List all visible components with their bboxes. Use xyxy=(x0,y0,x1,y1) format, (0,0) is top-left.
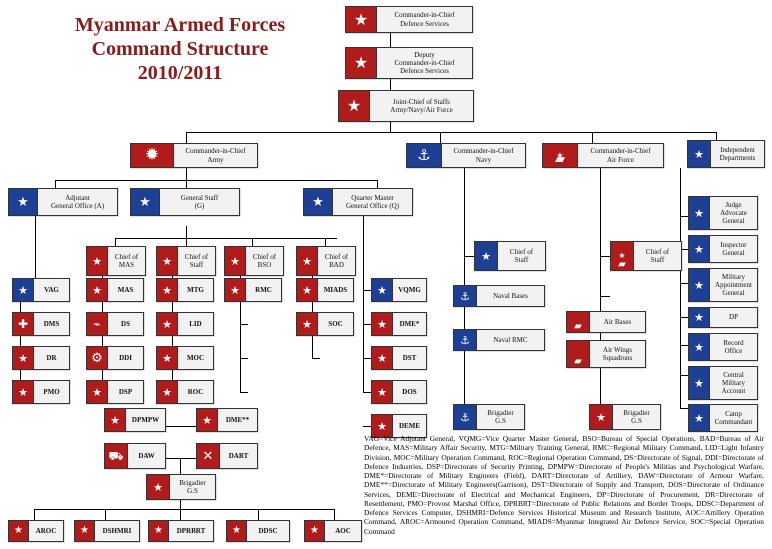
star-icon: ★ xyxy=(9,521,28,541)
flag-red-star: ★ xyxy=(372,313,393,335)
flag-red-star: ★ xyxy=(157,381,178,403)
star-icon: ★ xyxy=(105,409,125,431)
flag-army: ✹ xyxy=(131,144,174,167)
flag-navy-anchor: ⚓ xyxy=(454,286,477,306)
connector xyxy=(363,324,371,325)
star-icon: ★ xyxy=(339,91,369,121)
connector xyxy=(390,122,391,132)
node-label: MIADS xyxy=(318,279,353,301)
star-icon: ★ xyxy=(372,381,392,403)
star-icon: ✹ xyxy=(131,144,173,167)
anchor-icon: ⚓ xyxy=(454,286,476,306)
star-icon: ★ xyxy=(372,347,392,369)
node-chief-of-bad[interactable]: ★ Chief of BAD xyxy=(296,246,356,276)
wing-icon: ▰ xyxy=(543,144,577,167)
node-vqmg[interactable]: ★ VQMG xyxy=(371,278,427,302)
star-icon: ★ xyxy=(227,521,246,541)
node-cinc-air-force[interactable]: ★ ▰ Commander-in-Chief Air Force xyxy=(542,143,664,168)
flag-red-star: ★ xyxy=(225,247,246,275)
flag-blue-star: ★ xyxy=(689,334,710,360)
star-icon: ★ xyxy=(131,189,159,215)
node-dp[interactable]: ★ DP xyxy=(688,307,758,328)
connector xyxy=(186,168,187,180)
star-icon: ★ xyxy=(225,247,245,275)
node-label: Camp Commandant xyxy=(710,405,757,431)
connector xyxy=(390,33,391,47)
node-vag[interactable]: ★ VAG xyxy=(12,278,70,302)
node-label: Naval Bases xyxy=(477,286,544,306)
node-cinc-navy[interactable]: ⚓ Commander-in-Chief Navy xyxy=(406,143,526,168)
connector xyxy=(180,509,181,520)
node-label: Air Bases xyxy=(590,312,645,332)
node-label: DPMPW xyxy=(126,409,165,431)
node-chief-of-staff-army[interactable]: ★ Chief of Staff xyxy=(156,246,216,276)
node-soc[interactable]: ★ SOC xyxy=(296,312,354,336)
anchor-icon: ⚓ xyxy=(454,330,476,350)
flag-navy-anchor: ⚓ xyxy=(454,330,477,350)
connector xyxy=(186,180,187,188)
connector xyxy=(680,345,688,346)
node-label: DSHMRI xyxy=(95,521,139,541)
node-naval-bases[interactable]: ⚓ Naval Bases xyxy=(453,285,545,307)
star-icon: ★ xyxy=(688,141,710,167)
star-icon: ★ xyxy=(297,313,317,335)
flag-blue-star: ★ xyxy=(372,279,393,301)
node-ddsc[interactable]: ★ DDSC xyxy=(226,520,290,542)
node-label: Joint-Chief of Staffs Army/Navy/Air Forc… xyxy=(370,91,473,121)
connector xyxy=(186,238,187,246)
node-label: Independent Departments xyxy=(711,141,764,167)
flag-air-force: ★ ▰ xyxy=(543,144,578,167)
anchor-icon: ⚓ xyxy=(454,405,476,429)
node-chief-of-mas[interactable]: ★ Chief of MAS xyxy=(86,246,146,276)
cannon-icon: ✕ xyxy=(197,444,219,468)
star-icon: ★ xyxy=(305,521,324,541)
node-air-bases[interactable]: ▰ Air Bases xyxy=(566,311,646,333)
node-navy-chief-of-staff[interactable]: ★ Chief of Staff xyxy=(474,241,546,271)
connector xyxy=(258,509,259,520)
connector xyxy=(377,180,378,188)
node-label: ROC xyxy=(178,381,213,403)
flag-red-star: ★ xyxy=(372,347,393,369)
node-dart[interactable]: ✕ DART xyxy=(196,443,258,469)
page-title-line3: 2010/2011 xyxy=(40,62,320,85)
flag-blue-star: ★ xyxy=(9,189,38,215)
connector xyxy=(334,509,335,520)
node-label: MAS xyxy=(108,279,143,301)
node-label: Deputy Commander-in-Chief Defence Servic… xyxy=(377,48,472,78)
connector xyxy=(186,132,716,133)
node-brigadier-gs-army[interactable]: ★ Brigadier G.S xyxy=(146,474,216,500)
node-label: MOC xyxy=(178,347,213,369)
node-dos[interactable]: ★ DOS xyxy=(371,380,427,404)
node-dprbrt[interactable]: ★ DPRBRT xyxy=(148,520,214,542)
star-icon: ★ xyxy=(87,247,107,275)
node-military-appointment-general[interactable]: ★ Military Appointment General xyxy=(688,268,758,302)
node-label: DAW xyxy=(128,444,165,468)
connector xyxy=(600,296,610,297)
node-daw[interactable]: ⛟ DAW xyxy=(104,443,166,469)
node-label: Record Office xyxy=(710,334,757,360)
node-label: LID xyxy=(178,313,213,335)
node-record-office[interactable]: ★ Record Office xyxy=(688,333,758,361)
star-icon: ★ xyxy=(304,189,332,215)
connector xyxy=(680,216,688,217)
node-adjutant-general-office[interactable]: ★ Adjutant General Office (A) xyxy=(8,188,118,216)
star-icon: ★ xyxy=(197,409,217,431)
connector xyxy=(680,168,681,216)
node-general-staff[interactable]: ★ General Staff (G) xyxy=(130,188,240,216)
connector xyxy=(600,168,601,238)
node-label: Commander-in-Chief Air Force xyxy=(578,144,663,167)
star-icon: ★ xyxy=(13,381,33,403)
star-icon: ★ xyxy=(157,381,177,403)
node-quarter-master-general-office[interactable]: ★ Quarter Master General Office (Q) xyxy=(303,188,413,216)
node-label: Judge Advocate General xyxy=(710,197,757,229)
node-label: Commander-in-Chief Defence Services xyxy=(377,7,472,32)
star-icon: ★ xyxy=(9,189,37,215)
star-icon: ★ xyxy=(475,242,497,270)
flag-blue-star: ★ xyxy=(13,279,34,301)
flag-red-star: ★ xyxy=(75,521,95,541)
flag-red-star: ★ xyxy=(590,405,613,429)
connector xyxy=(35,216,36,278)
connector xyxy=(363,216,364,392)
node-label: Chief of Staff xyxy=(634,242,681,270)
connector xyxy=(363,358,371,359)
flag-red-star: ★ xyxy=(157,347,178,369)
flag-blue-star: ★ xyxy=(689,367,710,399)
flag-red-star: ★ xyxy=(297,279,318,301)
node-label: PMO xyxy=(34,381,69,403)
connector xyxy=(680,317,688,318)
star-icon: ★ xyxy=(225,279,245,301)
node-label: AOC xyxy=(325,521,361,541)
node-moc[interactable]: ★ MOC xyxy=(156,346,214,370)
flag-blue-star: ★ xyxy=(689,405,710,431)
flag-red-star: ★ xyxy=(346,7,377,32)
flag-blue-star: ★ xyxy=(131,189,160,215)
node-label: General Staff (G) xyxy=(160,189,239,215)
node-air-chief-of-staff[interactable]: ★ ▰ Chief of Staff xyxy=(610,241,682,271)
flag-blue-star: ★ xyxy=(689,236,710,262)
node-label: Brigadier G.S xyxy=(170,475,215,499)
page-title-line1: Myanmar Armed Forces xyxy=(40,14,320,37)
node-label: Military Appointment General xyxy=(710,269,757,301)
flag-red-star: ★ xyxy=(149,521,169,541)
page-title-line2: Command Structure xyxy=(40,38,320,61)
node-aroc[interactable]: ★ AROC xyxy=(8,520,64,542)
connector xyxy=(55,180,56,188)
node-label: Commander-in-Chief Navy xyxy=(442,144,525,167)
connector xyxy=(600,256,610,257)
node-label: Air Wings Squadrons xyxy=(590,341,645,367)
node-label: DMS xyxy=(34,313,69,335)
flag-red-star: ★ xyxy=(157,279,178,301)
medical-cross-icon: ✚ xyxy=(13,313,33,335)
node-dpmpw[interactable]: ★ DPMPW xyxy=(104,408,166,432)
star-icon: ★ xyxy=(346,48,376,78)
node-label: DST xyxy=(393,347,426,369)
node-navy-brigadier-gs[interactable]: ⚓ Brigadier G.S xyxy=(453,404,525,430)
connector xyxy=(180,458,181,474)
tank-icon: ⛟ xyxy=(105,444,127,468)
node-label: DART xyxy=(220,444,257,468)
flag-red-star: ★ xyxy=(197,409,218,431)
connector xyxy=(105,509,106,520)
flag-red-star: ★ xyxy=(157,247,178,275)
flag-red-star: ★ xyxy=(346,48,377,78)
node-label: DDI xyxy=(108,347,143,369)
connector xyxy=(592,132,593,143)
connector xyxy=(240,358,248,359)
node-label: Central Military Account xyxy=(710,367,757,399)
star-icon: ★ xyxy=(157,313,177,335)
node-label: Commander-in-Chief Army xyxy=(174,144,257,167)
node-judge-advocate-general[interactable]: ★ Judge Advocate General xyxy=(688,196,758,230)
star-icon: ★ xyxy=(297,279,317,301)
flag-blue-star: ★ xyxy=(689,197,710,229)
flag-red-star: ★ xyxy=(13,347,34,369)
connector xyxy=(252,238,253,246)
connector xyxy=(186,132,187,143)
star-icon: ★ xyxy=(689,334,709,360)
connector xyxy=(240,392,248,393)
node-rmc[interactable]: ★ RMC xyxy=(224,278,282,302)
flag-red-star: ★ xyxy=(297,247,318,275)
node-naval-rmc[interactable]: ⚓ Naval RMC xyxy=(453,329,545,351)
node-dsp[interactable]: ★ DSP xyxy=(86,380,144,404)
connector xyxy=(115,238,337,239)
flag-red-star: ★ xyxy=(147,475,170,499)
wing-icon: ▰ xyxy=(567,341,589,367)
connector xyxy=(363,392,371,393)
node-dr[interactable]: ★ DR xyxy=(12,346,70,370)
star-icon: ★ xyxy=(689,269,709,301)
star-icon: ★ xyxy=(87,381,107,403)
connector xyxy=(363,290,371,291)
node-dme-field[interactable]: ★ DME* xyxy=(371,312,427,336)
node-label: Chief of BSO xyxy=(246,247,283,275)
flag-air: ▰ xyxy=(567,312,590,332)
node-dst[interactable]: ★ DST xyxy=(371,346,427,370)
flag-red-star: ★ xyxy=(87,381,108,403)
flag-gear: ⚙ xyxy=(87,347,108,369)
node-cinc-defence-services[interactable]: ★ Commander-in-Chief Defence Services xyxy=(345,6,473,33)
connector xyxy=(680,408,688,409)
node-label: Chief of Staff xyxy=(178,247,215,275)
flag-blue-star: ★ xyxy=(475,242,498,270)
node-label: Brigadier G.S xyxy=(613,405,660,429)
node-label: DOS xyxy=(393,381,426,403)
gear-icon: ⚙ xyxy=(87,347,107,369)
star-icon: ★ xyxy=(689,236,709,262)
node-air-wings-squadrons[interactable]: ▰ Air Wings Squadrons xyxy=(566,340,646,368)
flag-red-star: ★ xyxy=(372,381,393,403)
node-ddi[interactable]: ⚙ DDI xyxy=(86,346,144,370)
node-label: AROC xyxy=(29,521,63,541)
flag-red-star: ★ xyxy=(297,313,318,335)
flag-navy: ⚓ xyxy=(407,144,442,167)
star-icon: ★ xyxy=(149,521,168,541)
connector xyxy=(440,132,441,143)
connector xyxy=(34,509,334,510)
connector xyxy=(115,238,116,246)
node-label: VAG xyxy=(34,279,69,301)
flag-red-star: ★ xyxy=(13,381,34,403)
node-independent-departments[interactable]: ★ Independent Departments xyxy=(687,140,765,168)
node-deputy-cinc-defence-services[interactable]: ★ Deputy Commander-in-Chief Defence Serv… xyxy=(345,47,473,79)
star-icon: ★ xyxy=(157,347,177,369)
node-central-military-account[interactable]: ★ Central Military Account xyxy=(688,366,758,400)
anchor-icon: ⚓ xyxy=(407,144,441,167)
flag-red-star: ★ xyxy=(339,91,370,121)
connector xyxy=(186,226,187,238)
node-cinc-army[interactable]: ✹ Commander-in-Chief Army xyxy=(130,143,258,168)
node-mtg[interactable]: ★ MTG xyxy=(156,278,214,302)
star-icon: ★ xyxy=(157,247,177,275)
star-icon: ★ xyxy=(372,279,392,301)
node-label: DP xyxy=(710,308,757,327)
star-icon: ★ xyxy=(372,313,392,335)
flag-red-star: ★ xyxy=(87,279,108,301)
star-icon: ★ xyxy=(13,279,33,301)
node-camp-commandant[interactable]: ★ Camp Commandant xyxy=(688,404,758,432)
flag-red-star: ★ xyxy=(9,521,29,541)
flag-air: ★ ▰ xyxy=(611,242,634,270)
node-roc[interactable]: ★ ROC xyxy=(156,380,214,404)
flag-blue-star: ★ xyxy=(688,141,711,167)
star-icon: ★ xyxy=(689,308,709,327)
node-label: Naval RMC xyxy=(477,330,544,350)
signal-icon: ⌁ xyxy=(87,313,107,335)
node-inspector-general[interactable]: ★ Inspector General xyxy=(688,235,758,263)
connector xyxy=(312,358,320,359)
star-icon: ★ xyxy=(87,279,107,301)
connector xyxy=(464,168,465,238)
flag-air: ▰ xyxy=(567,341,590,367)
flag-blue-star: ★ xyxy=(304,189,333,215)
legend-abbreviations: VAG=Vice Adjutant General, VQMG=Vice Qua… xyxy=(364,434,764,544)
star-icon: ★ xyxy=(297,247,317,275)
flag-artillery: ✕ xyxy=(197,444,220,468)
star-icon: ★ xyxy=(689,367,709,399)
node-label: Chief of BAD xyxy=(318,247,355,275)
node-label: Quarter Master General Office (Q) xyxy=(333,189,412,215)
flag-signal: ⌁ xyxy=(87,313,108,335)
flag-blue-star: ★ xyxy=(689,269,710,301)
node-label: RMC xyxy=(246,279,281,301)
connector xyxy=(34,509,35,520)
node-label: DME* xyxy=(393,313,426,335)
connector xyxy=(390,79,391,90)
node-ds[interactable]: ⌁ DS xyxy=(86,312,144,336)
star-icon: ★ xyxy=(157,279,177,301)
node-label: Chief of MAS xyxy=(108,247,145,275)
node-miads[interactable]: ★ MIADS xyxy=(296,278,354,302)
node-chief-of-bso[interactable]: ★ Chief of BSO xyxy=(224,246,284,276)
connector xyxy=(55,180,377,181)
star-icon: ★ xyxy=(689,405,709,431)
flag-armour: ⛟ xyxy=(105,444,128,468)
node-dme-garrison[interactable]: ★ DME** xyxy=(196,408,258,432)
node-label: SOC xyxy=(318,313,353,335)
flag-red-star: ★ xyxy=(225,279,246,301)
node-pmo[interactable]: ★ PMO xyxy=(12,380,70,404)
node-lid[interactable]: ★ LID xyxy=(156,312,214,336)
node-label: DME** xyxy=(218,409,257,431)
star-icon: ★ xyxy=(13,347,33,369)
star-icon: ★ xyxy=(147,475,169,499)
node-label: Chief of Staff xyxy=(498,242,545,270)
flag-red-star: ★ xyxy=(157,313,178,335)
node-label: DSP xyxy=(108,381,143,403)
flag-medical: ✚ xyxy=(13,313,34,335)
node-label: Adjutant General Office (A) xyxy=(38,189,117,215)
flag-red-star: ★ xyxy=(105,409,126,431)
flag-navy-anchor: ⚓ xyxy=(454,405,477,429)
node-dshmri[interactable]: ★ DSHMRI xyxy=(74,520,140,542)
star-icon: ★ xyxy=(346,7,376,32)
node-aoc[interactable]: ★ AOC xyxy=(304,520,362,542)
node-label: DR xyxy=(34,347,69,369)
wing-icon: ▰ xyxy=(611,242,633,270)
node-label: DS xyxy=(108,313,143,335)
connector xyxy=(464,256,474,257)
node-label: MTG xyxy=(178,279,213,301)
node-label: DPRBRT xyxy=(169,521,213,541)
connector xyxy=(680,283,688,284)
node-label: Brigadier G.S xyxy=(477,405,524,429)
node-label: DDSC xyxy=(247,521,289,541)
star-icon: ★ xyxy=(689,197,709,229)
connector xyxy=(325,238,326,246)
star-icon: ★ xyxy=(590,405,612,429)
node-mas[interactable]: ★ MAS xyxy=(86,278,144,302)
connector xyxy=(240,324,248,325)
node-dms[interactable]: ✚ DMS xyxy=(12,312,70,336)
connector xyxy=(363,426,371,427)
flag-red-star: ★ xyxy=(87,247,108,275)
node-joint-chief-of-staffs[interactable]: ★ Joint-Chief of Staffs Army/Navy/Air Fo… xyxy=(338,90,474,122)
connector xyxy=(680,375,688,376)
node-air-brigadier-gs[interactable]: ★ Brigadier G.S xyxy=(589,404,661,430)
flag-blue-star: ★ xyxy=(689,308,710,327)
node-label: Inspector General xyxy=(710,236,757,262)
node-label: VQMG xyxy=(393,279,426,301)
wing-icon: ▰ xyxy=(567,312,589,332)
flag-red-star: ★ xyxy=(305,521,325,541)
star-icon: ★ xyxy=(75,521,94,541)
flag-red-star: ★ xyxy=(227,521,247,541)
